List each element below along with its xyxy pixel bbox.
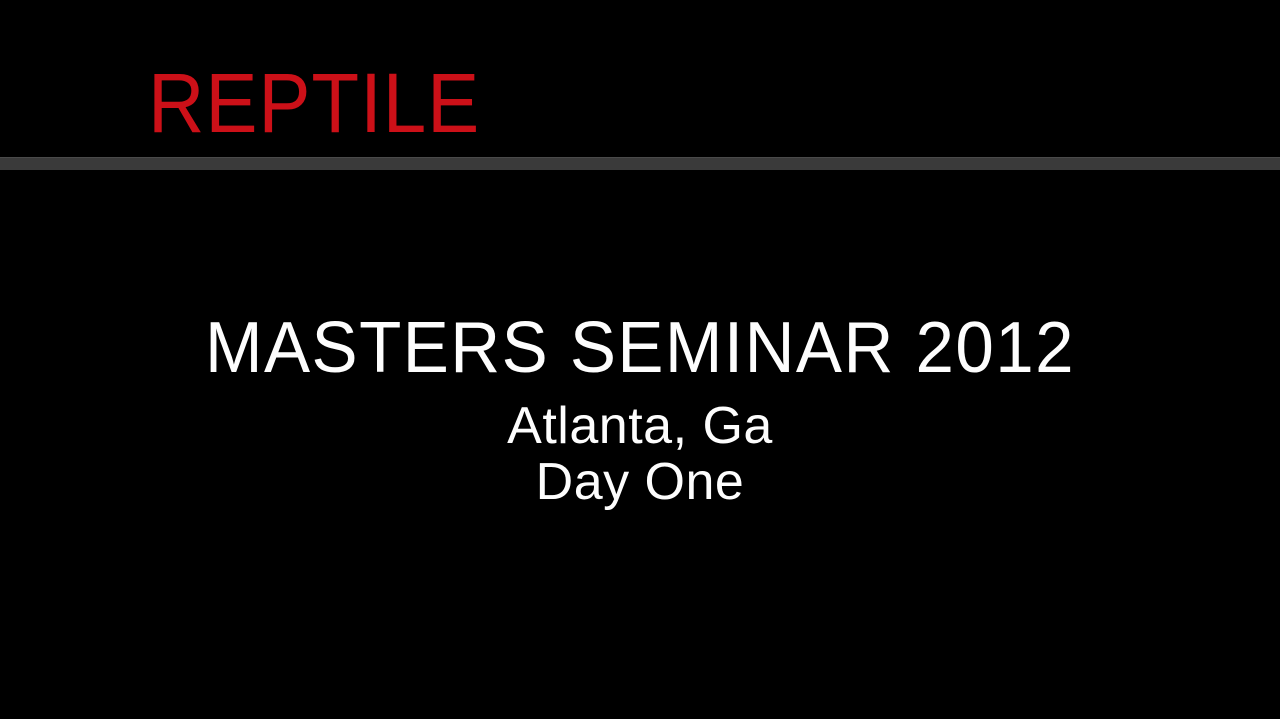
brand-header: REPTILE bbox=[0, 0, 1280, 157]
slide-content: MASTERS SEMINAR 2012 Atlanta, Ga Day One bbox=[0, 170, 1280, 719]
header-divider-bar bbox=[0, 157, 1280, 170]
brand-logo-reptile: REPTILE bbox=[148, 61, 480, 145]
title-slide: REPTILE MASTERS SEMINAR 2012 Atlanta, Ga… bbox=[0, 0, 1280, 719]
page-title: MASTERS SEMINAR 2012 bbox=[26, 310, 1255, 386]
subtitle-location: Atlanta, Ga bbox=[0, 398, 1280, 454]
subtitle-day: Day One bbox=[0, 454, 1280, 510]
